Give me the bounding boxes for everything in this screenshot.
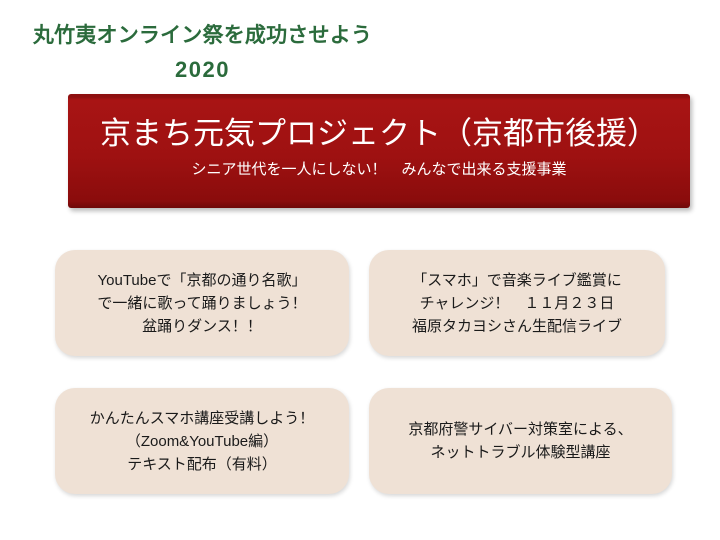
content-box-text: 京都府警サイバー対策室による、 ネットトラブル体験型講座 [408,418,632,464]
banner-subtitle: シニア世代を一人にしない！ みんなで出来る支援事業 [68,159,690,181]
content-box-text: YouTubeで「京都の通り名歌」 で一緒に歌って踊りましょう！ 盆踊りダンス！… [97,269,306,338]
slide-heading-year: 2020 [0,56,405,84]
banner-title: 京まち元気プロジェクト（京都市後援） [68,114,690,154]
content-box-youtube: YouTubeで「京都の通り名歌」 で一緒に歌って踊りましょう！ 盆踊りダンス！… [55,250,349,356]
content-box-text: 「スマホ」で音楽ライブ鑑賞に チャレンジ！ １１月２３日 福原タカヨシさん生配信… [412,269,622,338]
slide-heading-line1: 丸竹夷オンライン祭を成功させよう [0,22,405,50]
project-banner: 京まち元気プロジェクト（京都市後援） シニア世代を一人にしない！ みんなで出来る… [68,94,690,208]
content-box-text: かんたんスマホ講座受講しよう！ （Zoom&YouTube編） テキスト配布（有… [90,407,315,476]
presentation-slide: 丸竹夷オンライン祭を成功させよう 2020 京まち元気プロジェクト（京都市後援）… [0,0,720,540]
content-box-cyber-safety: 京都府警サイバー対策室による、 ネットトラブル体験型講座 [369,388,672,494]
content-box-music-live: 「スマホ」で音楽ライブ鑑賞に チャレンジ！ １１月２３日 福原タカヨシさん生配信… [369,250,665,356]
content-box-smartphone-course: かんたんスマホ講座受講しよう！ （Zoom&YouTube編） テキスト配布（有… [55,388,349,494]
